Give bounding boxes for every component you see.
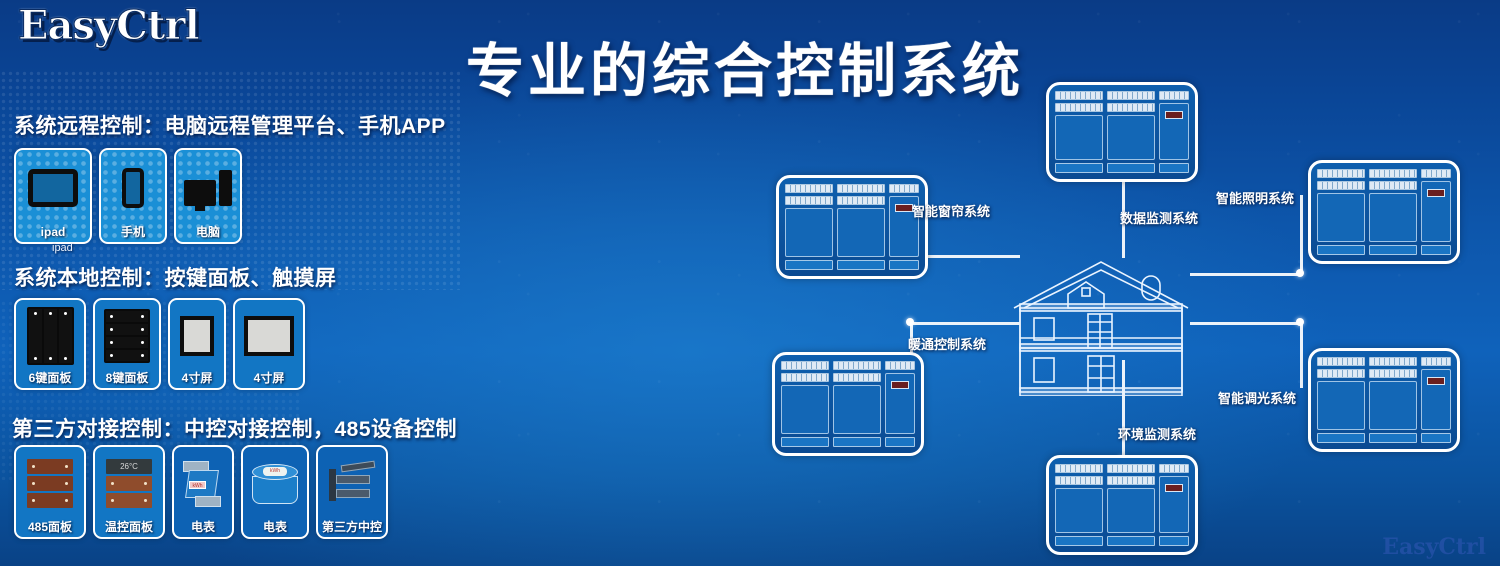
node-dimming xyxy=(1296,318,1304,326)
link-dimming-h xyxy=(1190,322,1302,325)
lighting-control-module[interactable] xyxy=(1308,160,1460,264)
device-label: 电表 xyxy=(191,521,215,534)
label-environment: 环境监测系统 xyxy=(1118,424,1196,443)
device-row-local: 6键面板 8键面板 4寸屏 4寸屏 xyxy=(14,298,305,390)
device-card-6key[interactable]: 6键面板 xyxy=(14,298,86,390)
round-energy-meter-icon: kWh xyxy=(243,447,307,521)
dimming-control-module[interactable] xyxy=(1308,348,1460,452)
thermostat-panel-icon: 26°C xyxy=(95,447,163,521)
device-row-remote: ipad 手机 电脑 xyxy=(14,148,242,244)
device-label: ipad xyxy=(41,226,66,239)
thermostat-display: 26°C xyxy=(106,459,152,474)
device-card-pc[interactable]: 电脑 xyxy=(174,148,242,244)
meter-tag: kWh xyxy=(189,481,206,489)
poster-canvas: EasyCtrl 专业的综合控制系统 系统远程控制：电脑远程管理平台、手机APP… xyxy=(0,0,1500,566)
device-card-meter2[interactable]: kWh 电表 xyxy=(241,445,309,539)
meter-lcd: kWh xyxy=(263,467,287,476)
desktop-computer-icon xyxy=(176,150,240,226)
environment-monitor-module[interactable] xyxy=(1046,455,1198,555)
device-card-thermostat[interactable]: 26°C 温控面板 xyxy=(93,445,165,539)
touch-screen-wide-icon xyxy=(235,300,303,372)
label-hvac: 暖通控制系统 xyxy=(908,334,986,353)
device-label: 温控面板 xyxy=(105,521,153,534)
smartphone-icon xyxy=(101,150,165,226)
ipad-sub-note: ipad xyxy=(52,242,73,254)
device-label: 电脑 xyxy=(196,226,220,239)
label-lighting: 智能照明系统 xyxy=(1216,188,1294,207)
device-label: 485面板 xyxy=(28,521,72,534)
device-card-thirdparty-ctrl[interactable]: 第三方中控 xyxy=(316,445,388,539)
device-card-485panel[interactable]: 485面板 xyxy=(14,445,86,539)
house-illustration xyxy=(1006,250,1196,396)
device-label: 4寸屏 xyxy=(254,372,285,385)
device-card-8key[interactable]: 8键面板 xyxy=(93,298,161,390)
tablet-icon xyxy=(16,150,90,226)
device-card-screen4b[interactable]: 4寸屏 xyxy=(233,298,305,390)
hvac-control-module[interactable] xyxy=(772,352,924,456)
energy-meter-icon: kWh xyxy=(174,447,232,521)
brand-logo: EasyCtrl xyxy=(18,2,199,49)
section-heading-remote: 系统远程控制：电脑远程管理平台、手机APP xyxy=(14,110,446,140)
curtain-control-module[interactable] xyxy=(776,175,928,279)
watermark: EasyCtrl xyxy=(1382,534,1486,560)
device-label: 4寸屏 xyxy=(182,372,213,385)
link-lighting-v xyxy=(1300,195,1303,273)
touch-screen-icon xyxy=(170,300,224,372)
device-label: 6键面板 xyxy=(29,372,72,385)
section-heading-thirdparty: 第三方对接控制：中控对接控制，485设备控制 xyxy=(12,413,457,443)
label-dimming: 智能调光系统 xyxy=(1218,388,1296,407)
device-card-ipad[interactable]: ipad xyxy=(14,148,92,244)
label-curtain: 智能窗帘系统 xyxy=(912,201,990,220)
system-topology-diagram: 智能窗帘系统 数据监测系统 智能照明系统 暖通控制系统 智能调光系统 xyxy=(760,60,1500,566)
device-card-phone[interactable]: 手机 xyxy=(99,148,167,244)
link-lighting-h xyxy=(1190,273,1302,276)
device-card-screen4a[interactable]: 4寸屏 xyxy=(168,298,226,390)
device-label: 手机 xyxy=(121,226,145,239)
device-row-thirdparty: 485面板 26°C 温控面板 kWh 电表 kWh 电表 xyxy=(14,445,388,539)
six-key-panel-icon xyxy=(16,300,84,372)
label-data: 数据监测系统 xyxy=(1120,208,1198,227)
node-hvac xyxy=(906,318,914,326)
link-hvac-h xyxy=(910,322,1020,325)
data-monitor-module[interactable] xyxy=(1046,82,1198,182)
section-heading-local: 系统本地控制：按键面板、触摸屏 xyxy=(14,262,337,292)
device-card-meter1[interactable]: kWh 电表 xyxy=(172,445,234,539)
device-label: 第三方中控 xyxy=(322,521,382,534)
third-party-controller-icon xyxy=(318,447,386,521)
rs485-panel-icon xyxy=(16,447,84,521)
device-label: 8键面板 xyxy=(106,372,149,385)
device-label: 电表 xyxy=(263,521,287,534)
link-dimming-v xyxy=(1300,322,1303,388)
node-lighting xyxy=(1296,269,1304,277)
eight-key-panel-icon xyxy=(95,300,159,372)
